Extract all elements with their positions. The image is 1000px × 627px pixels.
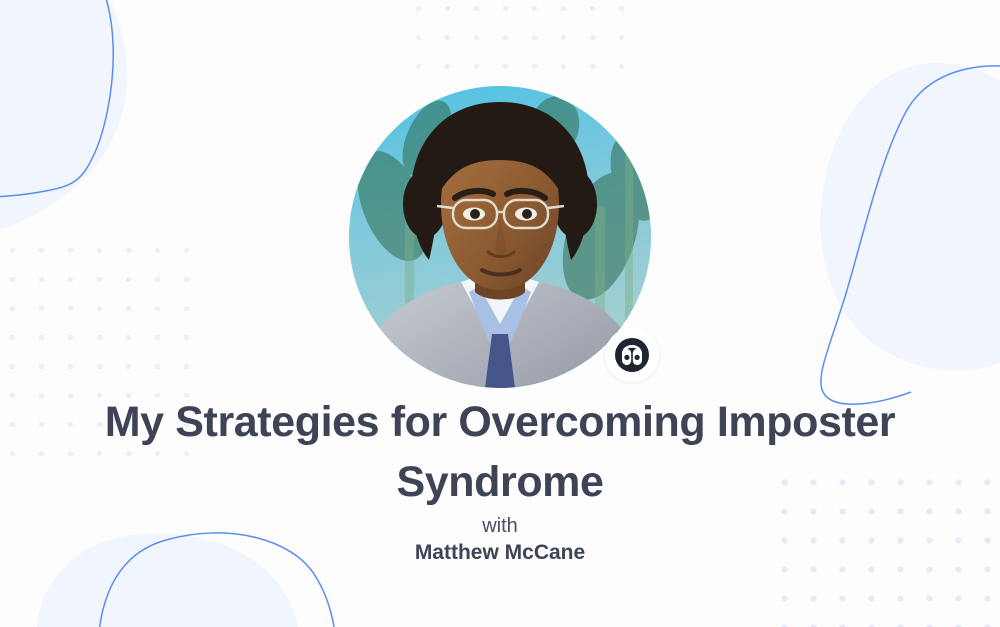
portrait-illustration (349, 86, 651, 388)
avatar-photo (349, 86, 651, 388)
card-content: My Strategies for Overcoming Imposter Sy… (0, 0, 1000, 627)
avatar (349, 86, 651, 388)
owl-logo-badge (605, 328, 659, 382)
promo-card: My Strategies for Overcoming Imposter Sy… (0, 0, 1000, 627)
with-label: with (0, 512, 1000, 540)
owl-logo-icon (615, 338, 649, 372)
page-title: My Strategies for Overcoming Imposter Sy… (60, 392, 940, 512)
speaker-name: Matthew McCane (0, 538, 1000, 567)
